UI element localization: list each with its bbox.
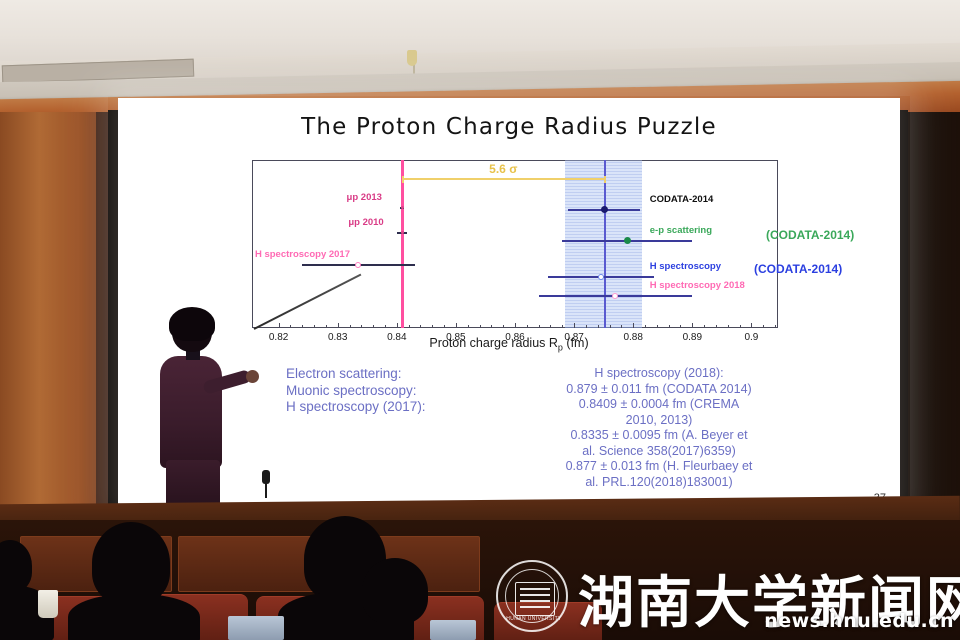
audience-shoulder-2 bbox=[68, 594, 200, 640]
x-tick-1 bbox=[338, 323, 339, 328]
notes-left: Electron scattering: Muonic spectroscopy… bbox=[286, 366, 426, 416]
x-minor-tick bbox=[444, 325, 445, 328]
presenter bbox=[150, 310, 240, 515]
x-axis-title-main: Proton charge radius R bbox=[429, 336, 558, 350]
datapoint-label-4: e-p scattering bbox=[650, 225, 712, 236]
paper-cup bbox=[38, 590, 58, 618]
proton-radius-chart: 5.6 σμp 2013μp 2010H spectroscopy 2017CO… bbox=[252, 160, 778, 328]
x-minor-tick bbox=[610, 325, 611, 328]
datapoint-3 bbox=[601, 206, 608, 213]
x-minor-tick bbox=[503, 325, 504, 328]
note-right-2: 0.8409 ± 0.0004 fm (CREMA bbox=[504, 397, 814, 413]
x-tick-5 bbox=[574, 323, 575, 328]
note-right-5: al. Science 358(2017)6359) bbox=[504, 444, 814, 460]
x-minor-tick bbox=[468, 325, 469, 328]
seal-text: HUNAN UNIVERSITY bbox=[498, 616, 570, 622]
laptop-screen bbox=[228, 616, 284, 640]
x-minor-tick bbox=[598, 325, 599, 328]
university-seal-icon: HUNAN UNIVERSITY bbox=[496, 560, 568, 632]
datapoint-2 bbox=[355, 262, 361, 268]
photo-scene: The Proton Charge Radius Puzzle 5.6 σμp … bbox=[0, 0, 960, 640]
note-right-4: 0.8335 ± 0.0095 fm (A. Beyer et bbox=[504, 428, 814, 444]
x-minor-tick bbox=[586, 325, 587, 328]
page-title: The Proton Charge Radius Puzzle bbox=[118, 114, 900, 140]
x-minor-tick bbox=[480, 325, 481, 328]
sigma-label: 5.6 σ bbox=[489, 162, 517, 176]
presenter-hair bbox=[169, 307, 215, 341]
chart-band-center-0 bbox=[604, 160, 605, 328]
x-minor-tick bbox=[314, 325, 315, 328]
datapoint-label-1: μp 2010 bbox=[348, 217, 383, 228]
x-minor-tick bbox=[728, 325, 729, 328]
x-tick-4 bbox=[515, 323, 516, 328]
datapoint-label-5: H spectroscopy bbox=[650, 261, 721, 272]
x-minor-tick bbox=[385, 325, 386, 328]
microphone-stem bbox=[265, 482, 267, 498]
x-minor-tick bbox=[621, 325, 622, 328]
x-minor-tick bbox=[373, 325, 374, 328]
x-tick-3 bbox=[456, 323, 457, 328]
x-tick-7 bbox=[692, 323, 693, 328]
x-minor-tick bbox=[763, 325, 764, 328]
outside-note-codata-green: (CODATA-2014) bbox=[766, 228, 854, 242]
sigma-bar-cap-1 bbox=[604, 176, 606, 183]
seal-building-icon bbox=[515, 582, 555, 616]
note-right-6: 0.877 ± 0.013 fm (H. Fleurbaey et bbox=[504, 459, 814, 475]
note-right-0: H spectroscopy (2018): bbox=[504, 366, 814, 382]
x-minor-tick bbox=[326, 325, 327, 328]
note-left-0: Electron scattering: bbox=[286, 366, 426, 383]
datapoint-label-2: H spectroscopy 2017 bbox=[255, 249, 350, 260]
presenter-body bbox=[160, 356, 222, 468]
x-minor-tick bbox=[527, 325, 528, 328]
x-minor-tick bbox=[657, 325, 658, 328]
datapoint-label-3: CODATA-2014 bbox=[650, 194, 714, 205]
x-minor-tick bbox=[680, 325, 681, 328]
note-right-3: 2010, 2013) bbox=[504, 413, 814, 429]
watermark-url: news.hnu.edu.cn bbox=[764, 610, 954, 632]
x-minor-tick bbox=[432, 325, 433, 328]
presenter-hand bbox=[246, 370, 259, 383]
x-minor-tick bbox=[290, 325, 291, 328]
x-minor-tick bbox=[491, 325, 492, 328]
datapoint-label-0: μp 2013 bbox=[347, 192, 382, 203]
note-right-1: 0.879 ± 0.011 fm (CODATA 2014) bbox=[504, 382, 814, 398]
x-tick-2 bbox=[397, 323, 398, 328]
x-axis-title-unit: (fm) bbox=[563, 336, 589, 350]
x-minor-tick bbox=[539, 325, 540, 328]
x-minor-tick bbox=[361, 325, 362, 328]
x-minor-tick bbox=[740, 325, 741, 328]
note-left-1: Muonic spectroscopy: bbox=[286, 383, 426, 400]
x-minor-tick bbox=[716, 325, 717, 328]
x-tick-0 bbox=[279, 323, 280, 328]
x-tick-6 bbox=[633, 323, 634, 328]
datapoint-5 bbox=[598, 274, 604, 280]
x-minor-tick bbox=[704, 325, 705, 328]
pendant-lamp-a bbox=[407, 50, 417, 66]
watermark: HUNAN UNIVERSITY 湖南大学新闻网 news.hnu.edu.cn bbox=[492, 552, 960, 638]
sigma-bar-cap-0 bbox=[402, 176, 404, 183]
audience-head-2 bbox=[92, 522, 170, 604]
x-minor-tick bbox=[550, 325, 551, 328]
chart-plot-area: 5.6 σμp 2013μp 2010H spectroscopy 2017CO… bbox=[252, 160, 778, 328]
note-left-2: H spectroscopy (2017): bbox=[286, 399, 426, 416]
chart-vline-0 bbox=[401, 160, 404, 328]
x-tick-8 bbox=[751, 323, 752, 328]
datapoint-0 bbox=[401, 206, 404, 209]
notes-right: H spectroscopy (2018): 0.879 ± 0.011 fm … bbox=[504, 366, 814, 490]
datapoint-1 bbox=[401, 231, 404, 234]
x-minor-tick bbox=[350, 325, 351, 328]
audience-head-4 bbox=[362, 558, 428, 624]
x-minor-tick bbox=[669, 325, 670, 328]
x-minor-tick bbox=[409, 325, 410, 328]
x-minor-tick bbox=[420, 325, 421, 328]
wall-right bbox=[900, 112, 960, 542]
laptop-screen-2 bbox=[430, 620, 476, 640]
x-minor-tick bbox=[645, 325, 646, 328]
outside-note-codata-blue: (CODATA-2014) bbox=[754, 262, 842, 276]
x-minor-tick bbox=[302, 325, 303, 328]
datapoint-4 bbox=[624, 237, 631, 244]
datapoint-label-6: H spectroscopy 2018 bbox=[650, 280, 745, 291]
x-minor-tick bbox=[562, 325, 563, 328]
x-minor-tick bbox=[775, 325, 776, 328]
note-right-7: al. PRL.120(2018)183001) bbox=[504, 475, 814, 491]
sigma-bar bbox=[402, 178, 604, 180]
